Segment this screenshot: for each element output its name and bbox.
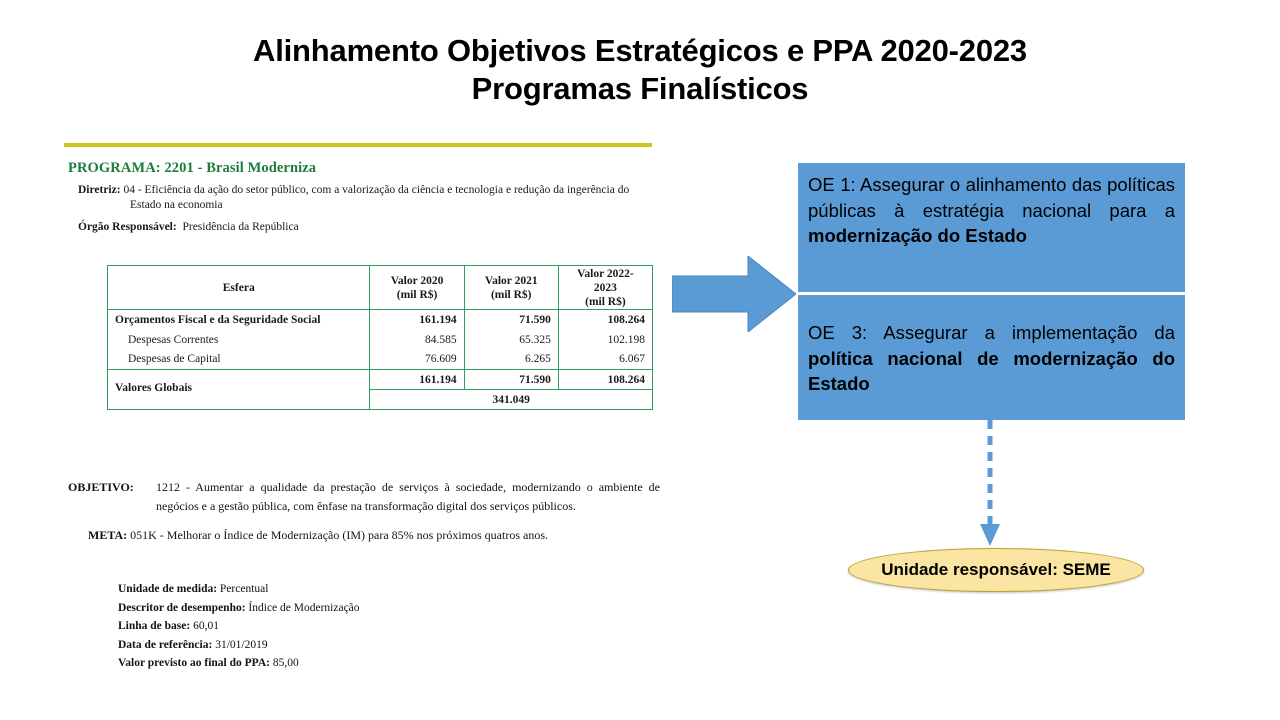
indicator-field-unidade-de-medida: Unidade de medida: Percentual	[118, 580, 360, 599]
meta-line: META: 051K - Melhorar o Índice de Modern…	[68, 526, 660, 545]
diretriz-value: 04 - Eficiência da ação do setor público…	[123, 184, 629, 196]
meta-value: 051K - Melhorar o Índice de Modernização…	[130, 528, 548, 542]
objective-block: OBJETIVO: 1212 - Aumentar a qualidade da…	[68, 478, 660, 545]
column-header-valor-2020: Valor 2020 (mil R$)	[370, 266, 464, 310]
diretriz-value-continuation: Estado na economia	[78, 198, 663, 213]
indicator-value-descritor-de-desempenho: Índice de Modernização	[248, 602, 359, 614]
column-header-valor-2020-line2: (mil R$)	[377, 288, 456, 302]
column-header-valor-2022-2023-line2: (mil R$)	[566, 295, 645, 309]
indicator-key-linha-de-base: Linha de base:	[118, 620, 190, 632]
totals-v2021: 71.590	[464, 370, 558, 390]
diretriz-line: Diretriz: 04 - Eficiência da ação do set…	[78, 183, 663, 213]
indicator-key-descritor-de-desempenho: Descritor de desempenho:	[118, 602, 246, 614]
totals-v2020: 161.194	[370, 370, 464, 390]
indicator-field-data-de-referencia: Data de referência: 31/01/2019	[118, 636, 360, 655]
indicator-field-descritor-de-desempenho: Descritor de desempenho: Índice de Moder…	[118, 599, 360, 618]
column-header-esfera: Esfera	[108, 266, 370, 310]
dashed-down-arrow-icon	[960, 420, 1020, 548]
column-header-valor-2021-line2: (mil R$)	[472, 288, 551, 302]
yellow-rule-divider	[64, 143, 652, 147]
indicator-key-unidade-de-medida: Unidade de medida:	[118, 583, 217, 595]
row-despesas-correntes-v2021: 65.325	[464, 330, 558, 350]
indicator-field-linha-de-base: Linha de base: 60,01	[118, 617, 360, 636]
table-row: Orçamentos Fiscal e da Seguridade Social…	[108, 310, 653, 330]
orgao-value: Presidência da República	[182, 221, 298, 233]
table-header-row: Esfera Valor 2020 (mil R$) Valor 2021 (m…	[108, 266, 653, 310]
page-title-line-2: Programas Finalísticos	[90, 70, 1190, 108]
meta-label: META:	[88, 528, 127, 542]
indicator-value-unidade-de-medida: Percentual	[220, 583, 269, 595]
indicator-value-linha-de-base: 60,01	[193, 620, 219, 632]
table-row: Despesas Correntes 84.585 65.325 102.198	[108, 330, 653, 350]
oe1-text-bold: modernização do Estado	[808, 225, 1027, 246]
row-orcamentos-v2020: 161.194	[370, 310, 464, 330]
row-despesas-capital-v2021: 6.265	[464, 350, 558, 370]
column-header-valor-2022-2023: Valor 2022-2023 (mil R$)	[558, 266, 652, 310]
program-heading: PROGRAMA: 2201 - Brasil Moderniza	[68, 160, 316, 177]
ppa-values-table: Esfera Valor 2020 (mil R$) Valor 2021 (m…	[107, 265, 653, 410]
page-title: Alinhamento Objetivos Estratégicos e PPA…	[90, 32, 1190, 108]
objetivo-value: 1212 - Aumentar a qualidade da prestação…	[156, 480, 660, 513]
table-row-totals: Valores Globais 161.194 71.590 108.264	[108, 370, 653, 390]
column-header-valor-2020-line1: Valor 2020	[377, 274, 456, 288]
column-header-valor-2021: Valor 2021 (mil R$)	[464, 266, 558, 310]
objective-box-oe1[interactable]: OE 1: Assegurar o alinhamento das políti…	[798, 163, 1185, 292]
row-despesas-capital-v2223: 6.067	[558, 350, 652, 370]
table-row: Despesas de Capital 76.609 6.265 6.067	[108, 350, 653, 370]
row-despesas-correntes-v2223: 102.198	[558, 330, 652, 350]
responsible-unit-label: Unidade responsável: SEME	[881, 560, 1111, 580]
objetivo-line: OBJETIVO: 1212 - Aumentar a qualidade da…	[68, 478, 660, 516]
column-header-valor-2022-2023-line1: Valor 2022-2023	[566, 267, 645, 295]
indicator-key-data-de-referencia: Data de referência:	[118, 639, 212, 651]
indicator-field-valor-previsto-final-ppa: Valor previsto ao final do PPA: 85,00	[118, 654, 360, 673]
row-orcamentos-v2021: 71.590	[464, 310, 558, 330]
indicator-key-valor-previsto-final-ppa: Valor previsto ao final do PPA:	[118, 657, 270, 669]
totals-v2223: 108.264	[558, 370, 652, 390]
objetivo-label: OBJETIVO:	[68, 478, 134, 497]
row-label-despesas-correntes: Despesas Correntes	[108, 330, 370, 350]
objective-box-oe3[interactable]: OE 3: Assegurar a implementação da polít…	[798, 295, 1185, 420]
orgao-label: Órgão Responsável:	[78, 221, 177, 233]
responsible-unit-badge[interactable]: Unidade responsável: SEME	[848, 548, 1144, 592]
diretriz-label: Diretriz:	[78, 184, 121, 196]
row-orcamentos-v2223: 108.264	[558, 310, 652, 330]
oe3-text-regular: OE 3: Assegurar a implementação da	[808, 322, 1175, 343]
oe3-text-bold: política nacional de modernização do Est…	[808, 348, 1175, 395]
indicator-value-data-de-referencia: 31/01/2019	[215, 639, 267, 651]
oe3-text-wrapper: OE 3: Assegurar a implementação da polít…	[808, 304, 1175, 397]
page-title-line-1: Alinhamento Objetivos Estratégicos e PPA…	[253, 33, 1027, 68]
orgao-line: Órgão Responsável: Presidência da Repúbl…	[78, 220, 299, 235]
indicator-fields-block: Unidade de medida: Percentual Descritor …	[118, 580, 360, 673]
indicator-value-valor-previsto-final-ppa: 85,00	[273, 657, 299, 669]
row-label-despesas-capital: Despesas de Capital	[108, 350, 370, 370]
grand-total-value: 341.049	[370, 390, 653, 410]
row-label-valores-globais: Valores Globais	[108, 370, 370, 410]
right-arrow-icon	[672, 256, 796, 332]
row-despesas-capital-v2020: 76.609	[370, 350, 464, 370]
row-label-orcamentos: Orçamentos Fiscal e da Seguridade Social	[108, 310, 370, 330]
row-despesas-correntes-v2020: 84.585	[370, 330, 464, 350]
column-header-valor-2021-line1: Valor 2021	[472, 274, 551, 288]
slide-canvas: Alinhamento Objetivos Estratégicos e PPA…	[0, 0, 1280, 720]
oe1-text-regular: OE 1: Assegurar o alinhamento das políti…	[808, 174, 1175, 221]
